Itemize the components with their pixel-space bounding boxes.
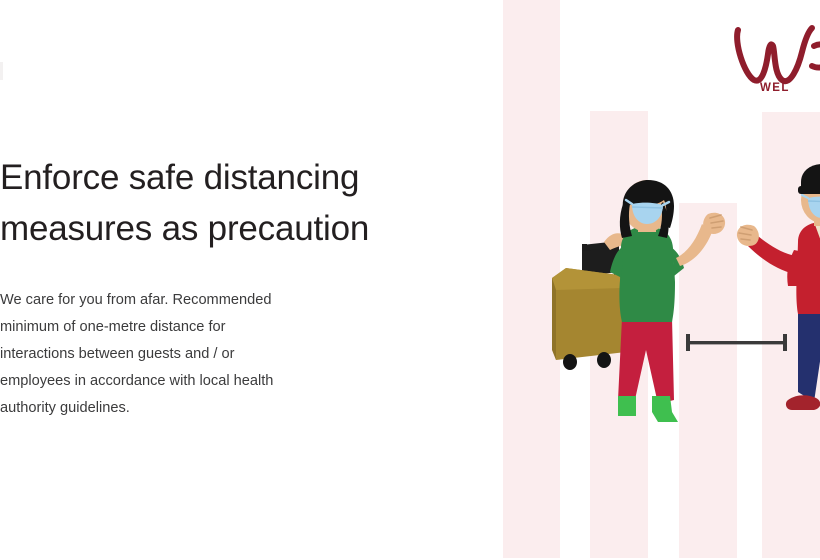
- body-paragraph: We care for you from afar. Recommended m…: [0, 287, 372, 422]
- headline-line-2: measures as precaution: [0, 203, 470, 254]
- woman-traveller-figure: [522, 190, 737, 440]
- slide-canvas: Enforce safe distancing measures as prec…: [0, 0, 820, 560]
- logo-subtitle: WEL: [760, 82, 790, 94]
- woman-trousers: [618, 318, 674, 404]
- body-line-2: minimum of one-metre distance for: [0, 314, 372, 341]
- woman-raised-arm: [676, 213, 725, 266]
- porter-jacket: [796, 221, 820, 315]
- body-line-5: authority guidelines.: [0, 395, 372, 422]
- left-edge-artifact: [0, 62, 3, 80]
- porter-trousers: [798, 310, 820, 402]
- body-line-3: interactions between guests and / or: [0, 341, 372, 368]
- text-panel: Enforce safe distancing measures as prec…: [0, 0, 500, 560]
- body-line-4: employees in accordance with local healt…: [0, 368, 372, 395]
- body-line-1: We care for you from afar. Recommended: [0, 287, 372, 314]
- brand-logo: WEL: [728, 12, 820, 104]
- headline-line-1: Enforce safe distancing: [0, 152, 470, 203]
- woman-shoes: [618, 396, 678, 422]
- porter-raised-arm: [737, 225, 804, 286]
- one-metre-distance-bar: [686, 333, 787, 352]
- page-title: Enforce safe distancing measures as prec…: [0, 152, 470, 254]
- porter-figure: [740, 190, 820, 440]
- porter-shoes: [786, 395, 820, 410]
- illustration-panel: WEL: [500, 0, 820, 560]
